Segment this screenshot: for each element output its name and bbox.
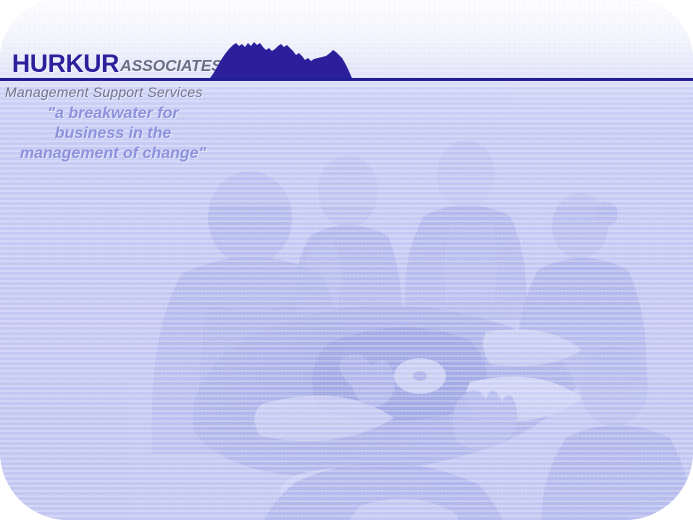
logo[interactable]: HURKURASSOCIATES — [12, 52, 222, 77]
site-header: HURKURASSOCIATES Management Support Serv… — [0, 0, 693, 100]
tagline: "a breakwater for business in the manage… — [8, 104, 218, 164]
content-card: HURKURASSOCIATES Management Support Serv… — [0, 0, 693, 520]
header-divider — [0, 78, 693, 81]
mountain-silhouette-icon — [208, 34, 353, 80]
logo-primary-text: HURKUR — [12, 50, 119, 78]
site-subtitle: Management Support Services — [5, 84, 203, 100]
logo-secondary-text: ASSOCIATES — [120, 58, 222, 75]
tagline-line-3: management of change" — [8, 144, 218, 164]
tagline-line-1: "a breakwater for — [8, 104, 218, 124]
page-root: HURKURASSOCIATES Management Support Serv… — [0, 0, 693, 520]
tagline-line-2: business in the — [8, 124, 218, 144]
